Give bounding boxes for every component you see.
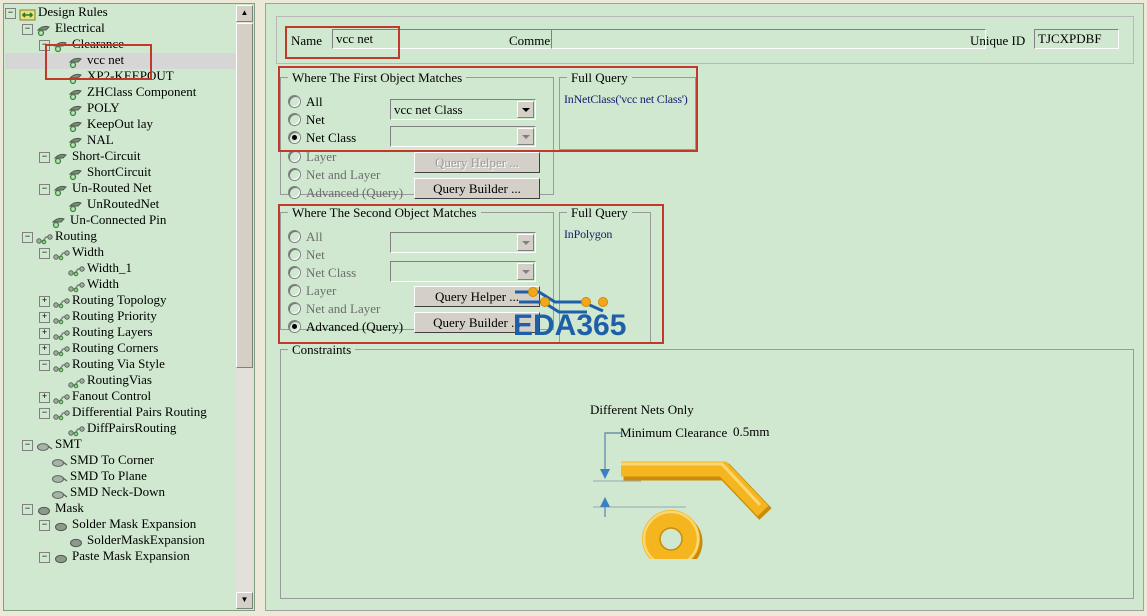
- chevron-down-icon[interactable]: [517, 263, 534, 280]
- smt-icon: [51, 456, 68, 469]
- tree-item-routing-corners[interactable]: +Routing Corners: [5, 341, 237, 357]
- tree-item-label: DiffPairsRouting: [87, 420, 176, 435]
- tree-expander-plus-icon[interactable]: +: [39, 312, 50, 323]
- routing-icon: [68, 376, 85, 389]
- tree-indent: [5, 328, 39, 340]
- radio-label: All: [306, 229, 323, 244]
- tree-item-label: Routing Via Style: [72, 356, 165, 371]
- tree-expander-minus-icon[interactable]: −: [22, 232, 33, 243]
- second-object-combo-top[interactable]: [390, 232, 536, 253]
- radio-second-net-class[interactable]: Net Class: [288, 264, 356, 281]
- design-rules-window: −Design Rules−Electrical−Clearancevcc ne…: [0, 0, 1147, 616]
- tree-indent: [5, 520, 39, 532]
- scroll-up-button[interactable]: ▲: [236, 5, 253, 22]
- scroll-down-button[interactable]: ▼: [236, 592, 253, 609]
- tree-item-label: XP2-KEEPOUT: [87, 68, 174, 83]
- tree-expander-minus-icon[interactable]: −: [5, 8, 16, 19]
- radio-dot: [288, 230, 301, 243]
- tree-item-solder-mask-expansion[interactable]: −Solder Mask Expansion: [5, 517, 237, 533]
- tree-expander-minus-icon[interactable]: −: [22, 440, 33, 451]
- chevron-down-icon[interactable]: [517, 128, 534, 145]
- tree-item-zhclass-component[interactable]: ZHClass Component: [5, 85, 237, 101]
- electrical-icon: [53, 40, 70, 53]
- routing-icon: [68, 264, 85, 277]
- tree-item-nal[interactable]: NAL: [5, 133, 237, 149]
- tree-expander-minus-icon[interactable]: −: [39, 552, 50, 563]
- electrical-icon: [68, 120, 85, 133]
- mask-icon: [53, 520, 70, 533]
- electrical-icon: [68, 56, 85, 69]
- radio-dot: [288, 186, 301, 199]
- first-full-query-text: InNetClass('vcc net Class'): [564, 92, 688, 107]
- mask-icon: [53, 552, 70, 565]
- tree-item-label: Routing Layers: [72, 324, 153, 339]
- tree-item-label: Short-Circuit: [72, 148, 141, 163]
- tree-indent: [5, 184, 39, 196]
- tree-item-width[interactable]: −Width: [5, 245, 237, 261]
- tree-indent: [5, 72, 56, 84]
- electrical-icon: [68, 104, 85, 117]
- chevron-down-icon[interactable]: [517, 234, 534, 251]
- tree-item-label: Routing Topology: [72, 292, 167, 307]
- radio-label: Layer: [306, 283, 336, 298]
- tree-item-label: Electrical: [55, 20, 105, 35]
- tree-indent: [5, 504, 22, 516]
- radio-dot: [288, 95, 301, 108]
- tree-expander-spacer: [56, 89, 65, 98]
- tree-item-smd-neck-down[interactable]: SMD Neck-Down: [5, 485, 237, 501]
- rule-header-box: Name vcc net Comment Unique ID TJCXPDBF: [276, 16, 1134, 64]
- tree-expander-minus-icon[interactable]: −: [39, 248, 50, 259]
- tree-indent: [5, 280, 56, 292]
- tree-indent: [5, 168, 56, 180]
- tree-expander-spacer: [56, 57, 65, 66]
- electrical-icon: [51, 216, 68, 229]
- combo-value: vcc net Class: [394, 102, 463, 117]
- tree-item-xp2-keepout[interactable]: XP2-KEEPOUT: [5, 69, 237, 85]
- tree-expander-spacer: [39, 457, 48, 466]
- radio-dot: [288, 266, 301, 279]
- tree-expander-spacer: [56, 201, 65, 210]
- tree-item-mask[interactable]: −Mask: [5, 501, 237, 517]
- tree-indent: [5, 440, 22, 452]
- radio-second-advanced-query[interactable]: Advanced (Query): [288, 318, 403, 335]
- radio-label: Advanced (Query): [306, 185, 403, 200]
- tree-item-label: POLY: [87, 100, 120, 115]
- tree-item-width[interactable]: Width: [5, 277, 237, 293]
- routing-icon: [68, 280, 85, 293]
- clearance-illustration: [581, 419, 831, 559]
- tree-indent: [5, 24, 22, 36]
- tree-expander-spacer: [56, 377, 65, 386]
- tree-item-label: SMD To Corner: [70, 452, 154, 467]
- tree-item-diffpairsrouting[interactable]: DiffPairsRouting: [5, 421, 237, 437]
- tree-item-label: Mask: [55, 500, 84, 515]
- tree-item-label: Fanout Control: [72, 388, 151, 403]
- tree-indent: [5, 488, 39, 500]
- smt-icon: [51, 488, 68, 501]
- tree-expander-minus-icon[interactable]: −: [39, 520, 50, 531]
- tree-item-smd-to-plane[interactable]: SMD To Plane: [5, 469, 237, 485]
- electrical-icon: [68, 88, 85, 101]
- radio-dot: [288, 150, 301, 163]
- routing-icon: [53, 248, 70, 261]
- design-rules-tree[interactable]: −Design Rules−Electrical−Clearancevcc ne…: [5, 5, 237, 609]
- tree-expander-plus-icon[interactable]: +: [39, 344, 50, 355]
- radio-label: Net Class: [306, 265, 356, 280]
- radio-second-all[interactable]: All: [288, 228, 323, 245]
- radio-dot: [288, 248, 301, 261]
- tree-expander-spacer: [56, 425, 65, 434]
- tree-expander-spacer: [56, 265, 65, 274]
- tree-expander-spacer: [39, 489, 48, 498]
- scroll-up-icon: ▲: [241, 8, 249, 17]
- tree-item-label: Clearance: [72, 36, 124, 51]
- tree-indent: [5, 456, 39, 468]
- tree-expander-spacer: [56, 537, 65, 546]
- tree-item-label: Width: [72, 244, 104, 259]
- routing-icon: [53, 328, 70, 341]
- different-nets-only-label: Different Nets Only: [590, 402, 694, 418]
- radio-first-net[interactable]: Net: [288, 111, 325, 128]
- radio-label: Net: [306, 112, 325, 127]
- smt-icon: [36, 440, 53, 453]
- tree-item-routing-layers[interactable]: +Routing Layers: [5, 325, 237, 341]
- tree-expander-spacer: [39, 473, 48, 482]
- tree-item-short-circuit[interactable]: −Short-Circuit: [5, 149, 237, 165]
- second-object-legend: Where The Second Object Matches: [288, 205, 481, 221]
- radio-dot: [288, 113, 301, 126]
- first-query-helper-button[interactable]: Query Helper ...: [414, 152, 540, 173]
- radio-second-layer[interactable]: Layer: [288, 282, 336, 299]
- first-object-combo-top[interactable]: vcc net Class: [390, 99, 536, 120]
- tree-indent: [5, 40, 39, 52]
- tree-item-electrical[interactable]: −Electrical: [5, 21, 237, 37]
- tree-item-routing-topology[interactable]: +Routing Topology: [5, 293, 237, 309]
- unique-id-input[interactable]: TJCXPDBF: [1034, 29, 1119, 49]
- tree-item-label: Solder Mask Expansion: [72, 516, 196, 531]
- tree-item-routing-via-style[interactable]: −Routing Via Style: [5, 357, 237, 373]
- tree-indent: [5, 392, 39, 404]
- tree-indent: [5, 56, 56, 68]
- tree-indent: [5, 104, 56, 116]
- tree-item-label: SMD To Plane: [70, 468, 147, 483]
- tree-indent: [5, 136, 56, 148]
- electrical-icon: [53, 184, 70, 197]
- unique-id-label: Unique ID: [970, 33, 1025, 49]
- tree-indent: [5, 552, 39, 564]
- first-object-combo-bottom[interactable]: [390, 126, 536, 147]
- tree-item-unroutednet[interactable]: UnRoutedNet: [5, 197, 237, 213]
- radio-first-advanced-query[interactable]: Advanced (Query): [288, 184, 403, 201]
- tree-item-soldermaskexpansion[interactable]: SolderMaskExpansion: [5, 533, 237, 549]
- tree-item-label: SMT: [55, 436, 82, 451]
- electrical-icon: [68, 200, 85, 213]
- radio-dot: [288, 302, 301, 315]
- tree-expander-spacer: [56, 169, 65, 178]
- tree-indent: [5, 424, 56, 436]
- tree-expander-minus-icon[interactable]: −: [39, 152, 50, 163]
- tree-item-label: Routing: [55, 228, 97, 243]
- tree-expander-plus-icon[interactable]: +: [39, 392, 50, 403]
- second-object-combo-bottom[interactable]: [390, 261, 536, 282]
- routing-icon: [53, 360, 70, 373]
- tree-item-smt[interactable]: −SMT: [5, 437, 237, 453]
- radio-dot: [288, 320, 301, 333]
- tree-item-poly[interactable]: POLY: [5, 101, 237, 117]
- tree-item-label: Differential Pairs Routing: [72, 404, 207, 419]
- mask-icon: [36, 504, 53, 517]
- electrical-icon: [68, 168, 85, 181]
- mask-icon: [68, 536, 85, 549]
- design-rules-icon: [19, 8, 36, 21]
- tree-indent: [5, 248, 39, 260]
- tree-indent: [5, 360, 39, 372]
- eda365-watermark: EDA365: [513, 309, 626, 343]
- tree-item-vcc-net[interactable]: vcc net: [5, 53, 237, 69]
- first-full-query-legend: Full Query: [567, 70, 632, 86]
- routing-icon: [53, 296, 70, 309]
- tree-item-label: UnRoutedNet: [87, 196, 159, 211]
- tree-item-design-rules[interactable]: −Design Rules: [5, 5, 237, 21]
- radio-label: Advanced (Query): [306, 319, 403, 334]
- tree-item-label: ShortCircuit: [87, 164, 151, 179]
- tree-item-width-1[interactable]: Width_1: [5, 261, 237, 277]
- tree-item-un-connected-pin[interactable]: Un-Connected Pin: [5, 213, 237, 229]
- tree-item-un-routed-net[interactable]: −Un-Routed Net: [5, 181, 237, 197]
- tree-item-routing[interactable]: −Routing: [5, 229, 237, 245]
- tree-vertical-scrollbar[interactable]: ▲ ▼: [236, 5, 253, 609]
- tree-indent: [5, 232, 22, 244]
- tree-indent: [5, 120, 56, 132]
- tree-item-paste-mask-expansion[interactable]: −Paste Mask Expansion: [5, 549, 237, 565]
- tree-indent: [5, 296, 39, 308]
- tree-indent: [5, 536, 56, 548]
- electrical-icon: [36, 24, 53, 37]
- tree-item-clearance[interactable]: −Clearance: [5, 37, 237, 53]
- tree-expander-plus-icon[interactable]: +: [39, 296, 50, 307]
- scroll-down-icon: ▼: [241, 595, 249, 604]
- tree-expander-minus-icon[interactable]: −: [39, 40, 50, 51]
- tree-expander-spacer: [56, 137, 65, 146]
- routing-icon: [53, 408, 70, 421]
- tree-item-label: vcc net: [87, 52, 124, 67]
- tree-item-shortcircuit[interactable]: ShortCircuit: [5, 165, 237, 181]
- smt-icon: [51, 472, 68, 485]
- tree-item-fanout-control[interactable]: +Fanout Control: [5, 389, 237, 405]
- radio-label: Net: [306, 247, 325, 262]
- tree-expander-minus-icon[interactable]: −: [39, 408, 50, 419]
- tree-item-label: NAL: [87, 132, 114, 147]
- routing-icon: [53, 312, 70, 325]
- tree-item-label: Routing Corners: [72, 340, 158, 355]
- routing-icon: [53, 392, 70, 405]
- radio-label: All: [306, 94, 323, 109]
- comment-input[interactable]: [551, 29, 986, 49]
- tree-indent: [5, 152, 39, 164]
- tree-item-routing-priority[interactable]: +Routing Priority: [5, 309, 237, 325]
- first-query-builder-button[interactable]: Query Builder ...: [414, 178, 540, 199]
- routing-icon: [53, 344, 70, 357]
- tree-item-label: Width: [87, 276, 119, 291]
- tree-expander-minus-icon[interactable]: −: [39, 360, 50, 371]
- tree-indent: [5, 216, 39, 228]
- electrical-icon: [53, 152, 70, 165]
- routing-icon: [68, 424, 85, 437]
- radio-first-net-class[interactable]: Net Class: [288, 129, 356, 146]
- tree-item-label: ZHClass Component: [87, 84, 196, 99]
- tree-item-label: Un-Routed Net: [72, 180, 152, 195]
- tree-indent: [5, 472, 39, 484]
- tree-indent: [5, 264, 56, 276]
- tree-item-label: Width_1: [87, 260, 132, 275]
- chevron-down-icon[interactable]: [517, 101, 534, 118]
- tree-item-routingvias[interactable]: RoutingVias: [5, 373, 237, 389]
- tree-item-label: Paste Mask Expansion: [72, 548, 190, 563]
- radio-first-net-and-layer[interactable]: Net and Layer: [288, 166, 380, 183]
- tree-expander-spacer: [56, 281, 65, 290]
- tree-expander-plus-icon[interactable]: +: [39, 328, 50, 339]
- tree-indent: [5, 376, 56, 388]
- name-label: Name: [291, 33, 322, 49]
- tree-item-label: Un-Connected Pin: [70, 212, 166, 227]
- radio-dot: [288, 131, 301, 144]
- electrical-icon: [68, 136, 85, 149]
- routing-icon: [36, 232, 53, 245]
- tree-expander-spacer: [56, 121, 65, 130]
- tree-expander-spacer: [39, 217, 48, 226]
- tree-item-label: KeepOut lay: [87, 116, 153, 131]
- tree-item-label: Routing Priority: [72, 308, 157, 323]
- tree-indent: [5, 344, 39, 356]
- tree-expander-spacer: [56, 73, 65, 82]
- second-full-query-text: InPolygon: [564, 227, 612, 242]
- radio-first-layer[interactable]: Layer: [288, 148, 336, 165]
- scrollbar-thumb[interactable]: [236, 23, 253, 368]
- radio-second-net-and-layer[interactable]: Net and Layer: [288, 300, 380, 317]
- radio-label: Layer: [306, 149, 336, 164]
- tree-expander-minus-icon[interactable]: −: [39, 184, 50, 195]
- radio-label: Net and Layer: [306, 301, 380, 316]
- tree-indent: [5, 200, 56, 212]
- constraints-legend: Constraints: [288, 342, 355, 358]
- tree-indent: [5, 312, 39, 324]
- tree-expander-minus-icon[interactable]: −: [22, 24, 33, 35]
- radio-dot: [288, 168, 301, 181]
- radio-label: Net Class: [306, 130, 356, 145]
- tree-indent: [5, 408, 39, 420]
- tree-indent: [5, 88, 56, 100]
- rule-editor-panel: Name vcc net Comment Unique ID TJCXPDBF …: [265, 3, 1144, 611]
- design-rules-tree-panel: −Design Rules−Electrical−Clearancevcc ne…: [3, 3, 255, 611]
- radio-second-net[interactable]: Net: [288, 246, 325, 263]
- first-full-query-group: Full Query: [559, 77, 696, 150]
- tree-item-smd-to-corner[interactable]: SMD To Corner: [5, 453, 237, 469]
- radio-label: Net and Layer: [306, 167, 380, 182]
- tree-expander-minus-icon[interactable]: −: [22, 504, 33, 515]
- second-full-query-legend: Full Query: [567, 205, 632, 221]
- tree-item-label: RoutingVias: [87, 372, 152, 387]
- tree-item-label: SolderMaskExpansion: [87, 532, 205, 547]
- tree-item-differential-pairs-routing[interactable]: −Differential Pairs Routing: [5, 405, 237, 421]
- tree-expander-spacer: [56, 105, 65, 114]
- radio-first-all[interactable]: All: [288, 93, 323, 110]
- tree-item-label: Design Rules: [38, 5, 108, 19]
- electrical-icon: [68, 72, 85, 85]
- tree-item-label: SMD Neck-Down: [70, 484, 165, 499]
- first-object-legend: Where The First Object Matches: [288, 70, 466, 86]
- tree-item-keepout-lay[interactable]: KeepOut lay: [5, 117, 237, 133]
- radio-dot: [288, 284, 301, 297]
